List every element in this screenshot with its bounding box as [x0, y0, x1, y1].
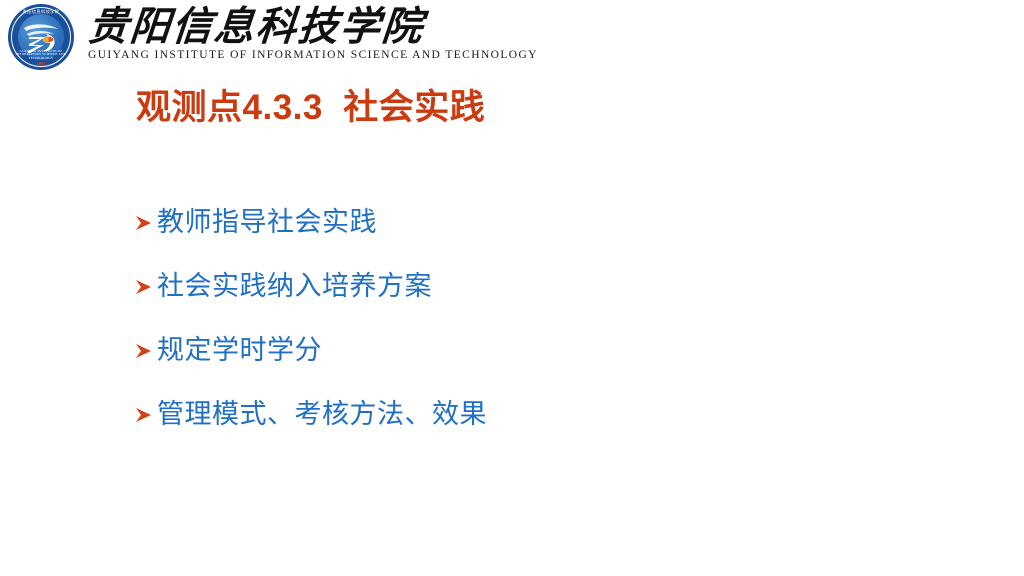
page-title: 观测点4.3.3 社会实践: [136, 88, 485, 128]
seal-ring-text-cn: 贵阳信息科技学院: [8, 10, 74, 14]
arrow-right-bullet-icon: [134, 401, 156, 427]
presentation-slide: 贵阳信息科技学院 GUIYANG INSTITUTE OF INFORMATIO…: [0, 0, 1024, 576]
list-item: 社会实践纳入培养方案: [134, 254, 834, 318]
arrow-right-bullet-icon: [134, 273, 156, 299]
institution-logo-lockup: 贵阳信息科技学院 GUIYANG INSTITUTE OF INFORMATIO…: [8, 4, 424, 70]
list-item: 教师指导社会实践: [134, 190, 834, 254]
arrow-right-bullet-icon: [134, 209, 156, 235]
arrow-right-bullet-icon: [134, 337, 156, 363]
bullet-list: 教师指导社会实践 社会实践纳入培养方案 规定学时学分 管理模式、考核方法、效果: [134, 190, 834, 446]
list-item: 管理模式、考核方法、效果: [134, 382, 834, 446]
wordmark-chinese: 贵阳信息科技学院: [86, 6, 426, 48]
list-item-label: 管理模式、考核方法、效果: [157, 398, 487, 430]
list-item-label: 教师指导社会实践: [157, 206, 377, 238]
list-item-label: 社会实践纳入培养方案: [157, 270, 432, 302]
seal-ring-text-en: GUIYANG INSTITUTE OF INFORMATION SCIENCE…: [8, 50, 74, 60]
wordmark-english: GUIYANG INSTITUTE OF INFORMATION SCIENCE…: [88, 49, 410, 61]
seal-year-label: 2001: [8, 62, 74, 67]
wordmark: 贵阳信息科技学院 GUIYANG INSTITUTE OF INFORMATIO…: [88, 4, 424, 61]
university-seal-icon: 贵阳信息科技学院 GUIYANG INSTITUTE OF INFORMATIO…: [8, 4, 74, 70]
list-item-label: 规定学时学分: [157, 334, 322, 366]
list-item: 规定学时学分: [134, 318, 834, 382]
